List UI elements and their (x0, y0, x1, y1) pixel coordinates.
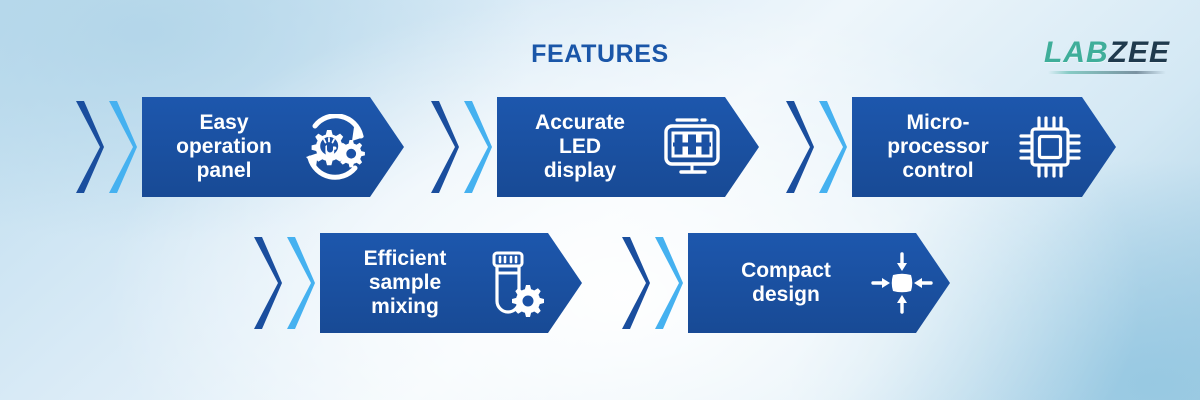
logo-underline (1048, 71, 1166, 74)
feature-label: Efficient sample mixing (338, 247, 472, 318)
feature-banner[interactable]: Compact design (688, 233, 950, 333)
page-title: FEATURES (0, 40, 1200, 69)
brand-logo: LABZEE (1044, 38, 1170, 68)
feature-label: Compact design (716, 259, 856, 306)
led-display-icon (649, 115, 735, 179)
feature-banner[interactable]: Easy operation panel (142, 97, 404, 197)
chevron-dark-icon (74, 97, 104, 197)
feature-item-easy-operation-panel[interactable]: Easy operation panel (74, 97, 404, 197)
feature-item-compact-design[interactable]: Compact design (620, 233, 950, 333)
cpu-chip-icon (1008, 114, 1092, 180)
chevron-light-icon (817, 97, 847, 197)
gears-cycle-icon (294, 114, 376, 180)
feature-label: Accurate LED display (515, 111, 645, 182)
features-infographic: FEATURES LABZEE Easy operation panel (0, 0, 1200, 400)
feature-item-microprocessor-control[interactable]: Micro- processor control (784, 97, 1116, 197)
chevron-dark-icon (429, 97, 459, 197)
chevron-dark-icon (784, 97, 814, 197)
logo-text-lab: LAB (1044, 36, 1109, 69)
chevron-light-icon (107, 97, 137, 197)
feature-label: Micro- processor control (868, 111, 1008, 182)
feature-banner[interactable]: Micro- processor control (852, 97, 1116, 197)
logo-text-zee: ZEE (1109, 36, 1170, 69)
feature-banner[interactable]: Efficient sample mixing (320, 233, 582, 333)
chevron-dark-icon (620, 233, 650, 333)
feature-banner[interactable]: Accurate LED display (497, 97, 759, 197)
chevron-light-icon (462, 97, 492, 197)
chevron-dark-icon (252, 233, 282, 333)
feature-label: Easy operation panel (156, 111, 292, 182)
feature-item-accurate-led-display[interactable]: Accurate LED display (429, 97, 759, 197)
feature-item-efficient-sample-mixing[interactable]: Efficient sample mixing (252, 233, 582, 333)
compress-arrows-icon (862, 250, 942, 316)
chevron-light-icon (285, 233, 315, 333)
test-tube-gear-icon (474, 249, 558, 317)
chevron-light-icon (653, 233, 683, 333)
